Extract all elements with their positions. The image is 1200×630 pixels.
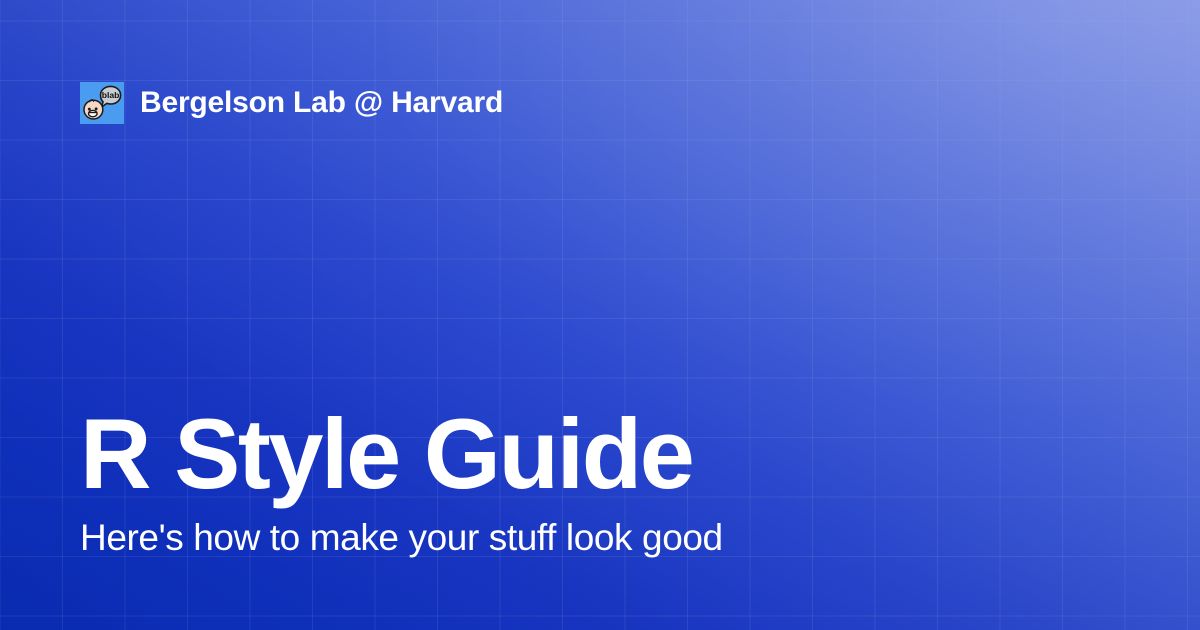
blab-baby-logo-icon: blab bbox=[80, 82, 124, 124]
page-subtitle: Here's how to make your stuff look good bbox=[80, 517, 1120, 560]
brand-header[interactable]: blab Bergelson Lab @ Harvard bbox=[80, 82, 503, 124]
svg-text:blab: blab bbox=[102, 90, 120, 100]
social-preview-card: blab Bergelson Lab @ Harvard R Style Gui… bbox=[0, 0, 1200, 630]
brand-name-label: Bergelson Lab @ Harvard bbox=[140, 88, 503, 118]
page-title: R Style Guide bbox=[80, 404, 1120, 503]
title-block: R Style Guide Here's how to make your st… bbox=[80, 404, 1120, 560]
